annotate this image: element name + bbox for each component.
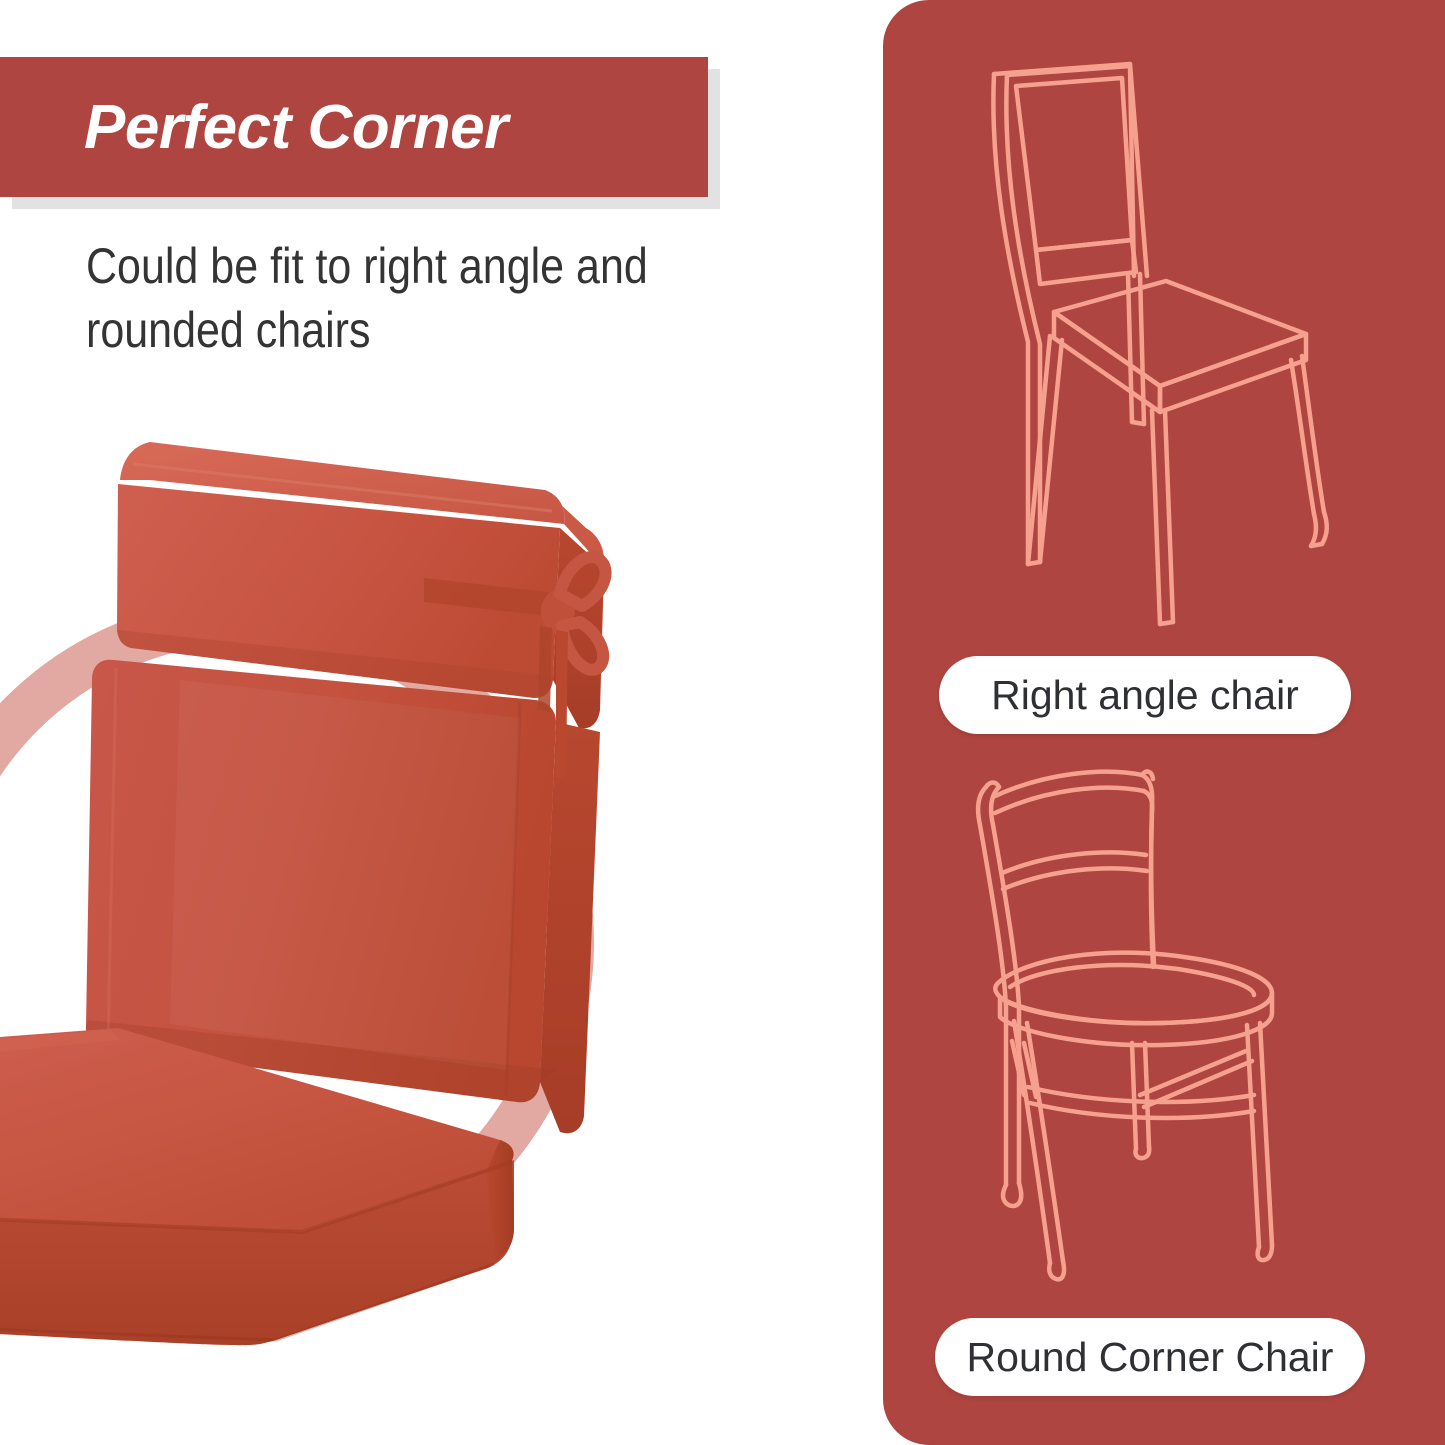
label-round-corner-chair: Round Corner Chair	[935, 1318, 1365, 1396]
round-corner-chair-slot	[883, 755, 1445, 1315]
cushion-illustration	[0, 380, 700, 1390]
left-panel: Perfect Corner Could be fit to right ang…	[0, 0, 883, 1445]
label-right-angle-chair: Right angle chair	[939, 656, 1351, 734]
round-corner-chair-icon	[954, 755, 1374, 1315]
label-right-angle-chair-text: Right angle chair	[991, 672, 1299, 719]
label-round-corner-chair-text: Round Corner Chair	[967, 1334, 1334, 1381]
right-angle-chair-slot	[883, 44, 1445, 644]
infographic-page: Perfect Corner Could be fit to right ang…	[0, 0, 1445, 1445]
right-panel: Right angle chair	[883, 0, 1445, 1445]
subtitle-text: Could be fit to right angle and rounded …	[86, 234, 740, 362]
title-banner: Perfect Corner	[0, 57, 708, 197]
right-angle-chair-icon	[954, 44, 1374, 644]
product-image	[0, 380, 700, 1390]
page-title: Perfect Corner	[0, 92, 508, 163]
